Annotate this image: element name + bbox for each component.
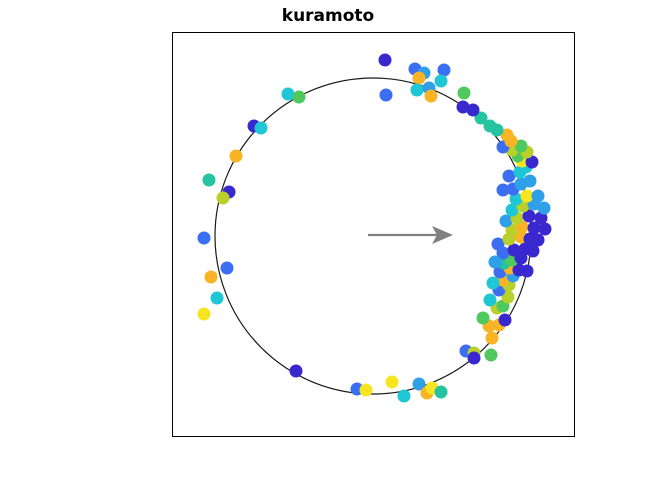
oscillator-marker — [425, 90, 438, 103]
oscillator-marker — [203, 174, 216, 187]
oscillator-marker — [499, 314, 512, 327]
oscillator-marker — [198, 232, 211, 245]
oscillator-marker — [438, 64, 451, 77]
oscillator-marker — [532, 234, 545, 247]
oscillator-marker — [386, 376, 399, 389]
oscillator-marker — [487, 277, 500, 290]
oscillator-marker — [293, 91, 306, 104]
oscillator-marker — [398, 390, 411, 403]
oscillator-marker — [468, 352, 481, 365]
oscillator-marker — [411, 84, 424, 97]
oscillator-marker — [205, 271, 218, 284]
oscillator-marker — [198, 308, 211, 321]
oscillator-marker — [217, 192, 230, 205]
oscillator-marker — [539, 223, 552, 236]
oscillator-marker — [524, 175, 537, 188]
oscillator-marker — [486, 332, 499, 345]
oscillator-marker — [230, 150, 243, 163]
oscillator-marker — [379, 54, 392, 67]
oscillator-marker — [290, 365, 303, 378]
oscillator-marker — [532, 190, 545, 203]
oscillator-marker — [458, 87, 471, 100]
oscillator-marker — [380, 89, 393, 102]
oscillator-marker — [435, 386, 448, 399]
plot-area — [0, 0, 656, 492]
oscillator-marker — [467, 104, 480, 117]
oscillator-marker — [282, 88, 295, 101]
oscillator-marker — [211, 292, 224, 305]
oscillator-marker — [360, 384, 373, 397]
oscillator-marker — [521, 265, 534, 278]
oscillator-marker — [484, 294, 497, 307]
oscillator-marker — [413, 72, 426, 85]
oscillator-marker — [489, 256, 502, 269]
figure-canvas: kuramoto — [0, 0, 656, 492]
oscillator-marker — [435, 75, 448, 88]
oscillator-marker — [500, 215, 513, 228]
oscillator-marker — [477, 312, 490, 325]
oscillator-marker — [255, 122, 268, 135]
oscillator-marker — [221, 262, 234, 275]
oscillator-marker — [538, 202, 551, 215]
oscillator-marker — [485, 349, 498, 362]
